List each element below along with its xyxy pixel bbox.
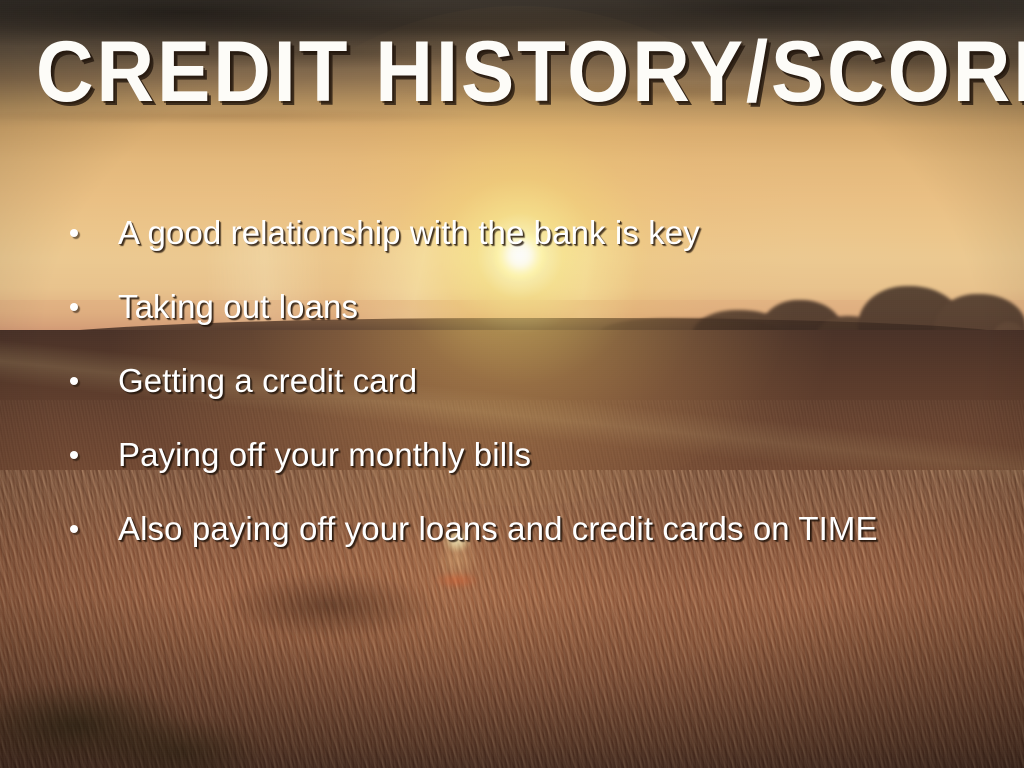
bullet-dot-icon <box>70 525 78 533</box>
bullet-dot-icon <box>70 451 78 459</box>
bullet-dot-icon <box>70 377 78 385</box>
slide-content: CREDIT HISTORY/SCORE A good relationship… <box>0 0 1024 768</box>
bullet-text: Paying off your monthly bills <box>118 436 531 474</box>
bullet-dot-icon <box>70 303 78 311</box>
bullet-text: Getting a credit card <box>118 362 417 400</box>
presentation-slide: CREDIT HISTORY/SCORE A good relationship… <box>0 0 1024 768</box>
slide-title: CREDIT HISTORY/SCORE <box>36 26 988 118</box>
bullet-text: Also paying off your loans and credit ca… <box>118 510 878 548</box>
bullet-text: Taking out loans <box>118 288 358 326</box>
bullet-item: Getting a credit card <box>62 344 1012 418</box>
bullet-dot-icon <box>70 229 78 237</box>
bullet-item: Taking out loans <box>62 270 1012 344</box>
bullet-text: A good relationship with the bank is key <box>118 214 700 252</box>
bullet-item: A good relationship with the bank is key <box>62 196 1012 270</box>
bullet-item: Also paying off your loans and credit ca… <box>62 492 1012 566</box>
bullet-list: A good relationship with the bank is key… <box>62 196 1012 566</box>
bullet-item: Paying off your monthly bills <box>62 418 1012 492</box>
